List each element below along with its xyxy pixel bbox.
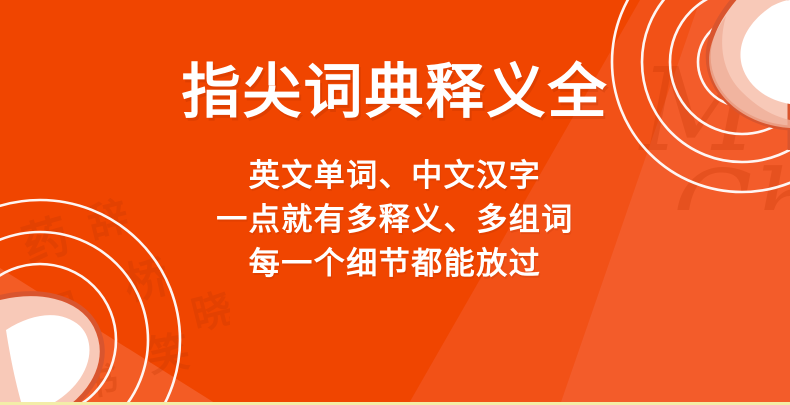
promo-banner: M Ch 药 辞 桥 词 [0,0,790,405]
cjk-watermark-1: 药 [16,208,75,273]
decorative-artwork: M Ch 药 辞 桥 词 [0,0,790,405]
cjk-watermark-6: 晓 [187,285,237,339]
bottom-left-touch-graphic: 药 辞 桥 词 笑 晓 书 [0,193,237,405]
cjk-watermark-3: 桥 [120,252,174,311]
top-right-touch-graphic: M Ch [612,0,790,270]
script-letter-ch: Ch [672,148,790,270]
cjk-watermark-2: 辞 [83,193,133,247]
cjk-watermark-5: 笑 [143,326,193,382]
